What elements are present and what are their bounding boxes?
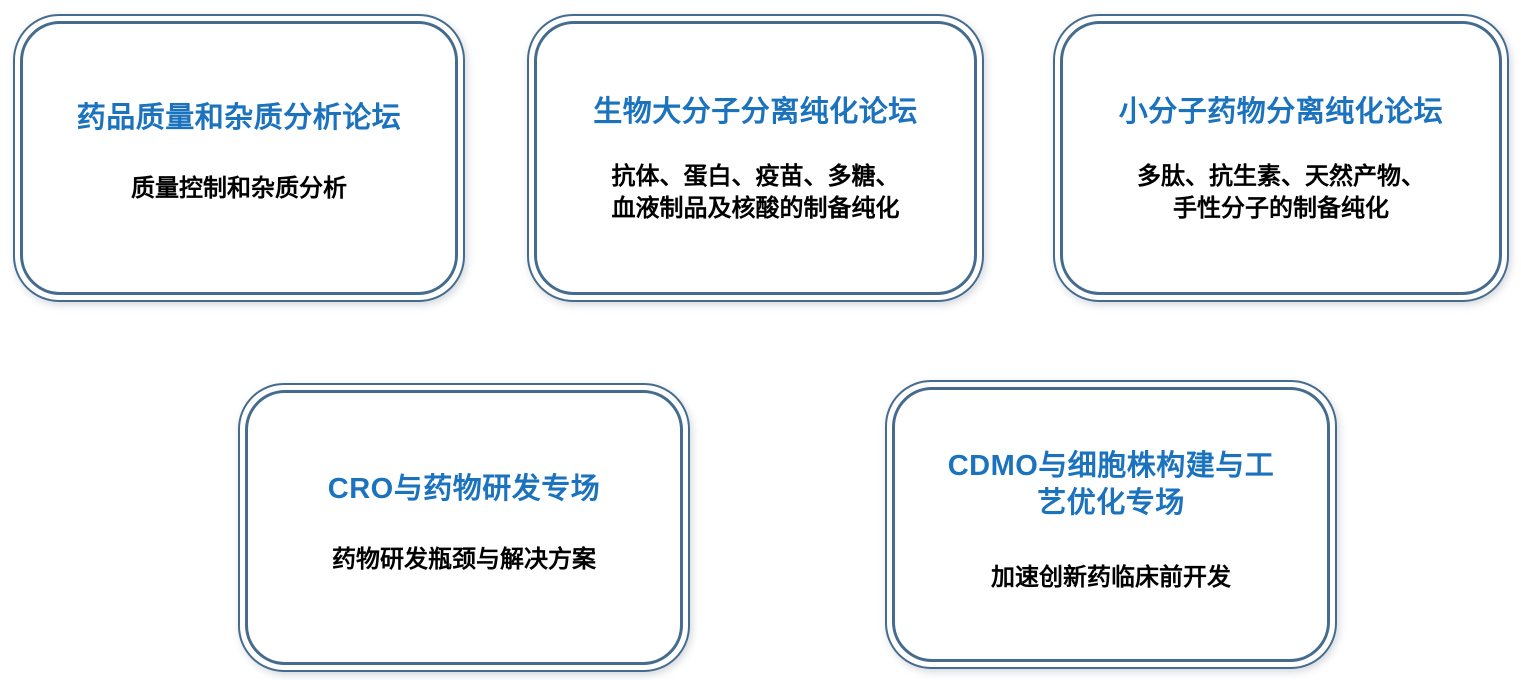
forum-card-subtitle: 药物研发瓶颈与解决方案 xyxy=(332,544,596,576)
forum-card-title: CDMO与细胞株构建与工 艺优化专场 xyxy=(948,448,1275,522)
forum-card-title: CRO与药物研发专场 xyxy=(328,471,600,508)
forum-card-title: 生物大分子分离纯化论坛 xyxy=(593,94,918,131)
forum-card-small-molecule[interactable]: 小分子药物分离纯化论坛 多肽、抗生素、天然产物、 手性分子的制备纯化 xyxy=(1053,14,1509,302)
forum-card-inner: CRO与药物研发专场 药物研发瓶颈与解决方案 xyxy=(245,390,683,665)
forum-card-quality[interactable]: 药品质量和杂质分析论坛 质量控制和杂质分析 xyxy=(13,14,465,302)
forum-card-subtitle: 多肽、抗生素、天然产物、 手性分子的制备纯化 xyxy=(1137,161,1425,225)
forum-card-cro[interactable]: CRO与药物研发专场 药物研发瓶颈与解决方案 xyxy=(238,383,690,672)
forum-card-inner: 药品质量和杂质分析论坛 质量控制和杂质分析 xyxy=(20,21,458,295)
forum-card-subtitle: 质量控制和杂质分析 xyxy=(131,173,347,205)
forum-card-title: 药品质量和杂质分析论坛 xyxy=(77,100,402,137)
forum-card-inner: 小分子药物分离纯化论坛 多肽、抗生素、天然产物、 手性分子的制备纯化 xyxy=(1060,21,1502,295)
forum-card-inner: CDMO与细胞株构建与工 艺优化专场 加速创新药临床前开发 xyxy=(892,387,1330,662)
forum-card-cdmo[interactable]: CDMO与细胞株构建与工 艺优化专场 加速创新药临床前开发 xyxy=(885,380,1337,669)
forum-card-biomolecule[interactable]: 生物大分子分离纯化论坛 抗体、蛋白、疫苗、多糖、 血液制品及核酸的制备纯化 xyxy=(527,14,984,302)
forum-card-subtitle: 抗体、蛋白、疫苗、多糖、 血液制品及核酸的制备纯化 xyxy=(612,161,900,225)
forum-card-subtitle: 加速创新药临床前开发 xyxy=(991,562,1231,594)
forum-card-inner: 生物大分子分离纯化论坛 抗体、蛋白、疫苗、多糖、 血液制品及核酸的制备纯化 xyxy=(534,21,977,295)
forum-card-title: 小分子药物分离纯化论坛 xyxy=(1119,94,1444,131)
forum-tracks-board: 药品质量和杂质分析论坛 质量控制和杂质分析 生物大分子分离纯化论坛 抗体、蛋白、… xyxy=(0,0,1521,680)
